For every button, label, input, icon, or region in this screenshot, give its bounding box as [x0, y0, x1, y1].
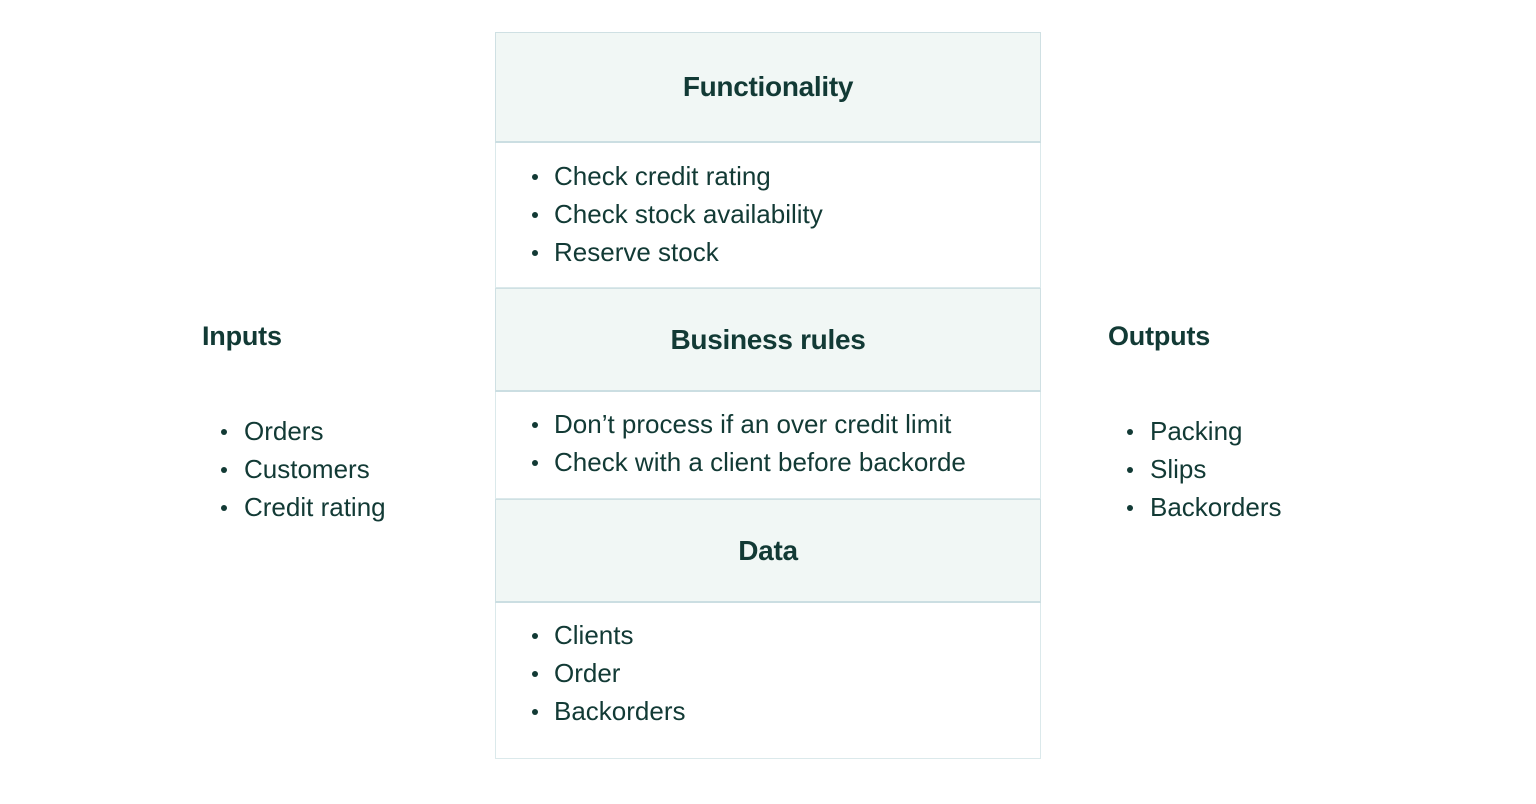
section-data: Data Clients Order Backorders	[495, 499, 1041, 759]
section-header-business-rules: Business rules	[495, 288, 1041, 392]
list-item: Backorders	[496, 692, 1040, 730]
section-title: Data	[738, 535, 798, 567]
section-functionality: Functionality Check credit rating Check …	[495, 32, 1041, 288]
outputs-list: Packing Slips Backorders	[1108, 412, 1282, 526]
section-title: Functionality	[683, 71, 853, 103]
list-item: Slips	[1108, 450, 1282, 488]
outputs-heading: Outputs	[1108, 320, 1210, 352]
list-item: Orders	[202, 412, 386, 450]
list-item: Backorders	[1108, 488, 1282, 526]
list-item: Packing	[1108, 412, 1282, 450]
center-panel-stack: Functionality Check credit rating Check …	[495, 32, 1041, 759]
list-item: Check credit rating	[496, 157, 1040, 195]
list-item: Credit rating	[202, 488, 386, 526]
list-item: Check with a client before backorde	[496, 443, 1040, 481]
section-body-data: Clients Order Backorders	[495, 603, 1041, 759]
list-item: Customers	[202, 450, 386, 488]
list-item: Reserve stock	[496, 233, 1040, 271]
section-header-data: Data	[495, 499, 1041, 603]
list-item: Clients	[496, 616, 1040, 654]
section-header-functionality: Functionality	[495, 32, 1041, 143]
inputs-list: Orders Customers Credit rating	[202, 412, 386, 526]
section-body-functionality: Check credit rating Check stock availabi…	[495, 143, 1041, 288]
data-list: Clients Order Backorders	[496, 616, 1040, 730]
list-item: Order	[496, 654, 1040, 692]
inputs-heading: Inputs	[202, 320, 282, 352]
section-business-rules: Business rules Don’t process if an over …	[495, 288, 1041, 499]
business-rules-list: Don’t process if an over credit limit Ch…	[496, 405, 1040, 481]
functionality-list: Check credit rating Check stock availabi…	[496, 157, 1040, 271]
section-body-business-rules: Don’t process if an over credit limit Ch…	[495, 392, 1041, 499]
list-item: Check stock availability	[496, 195, 1040, 233]
list-item: Don’t process if an over credit limit	[496, 405, 1040, 443]
section-title: Business rules	[671, 324, 866, 356]
